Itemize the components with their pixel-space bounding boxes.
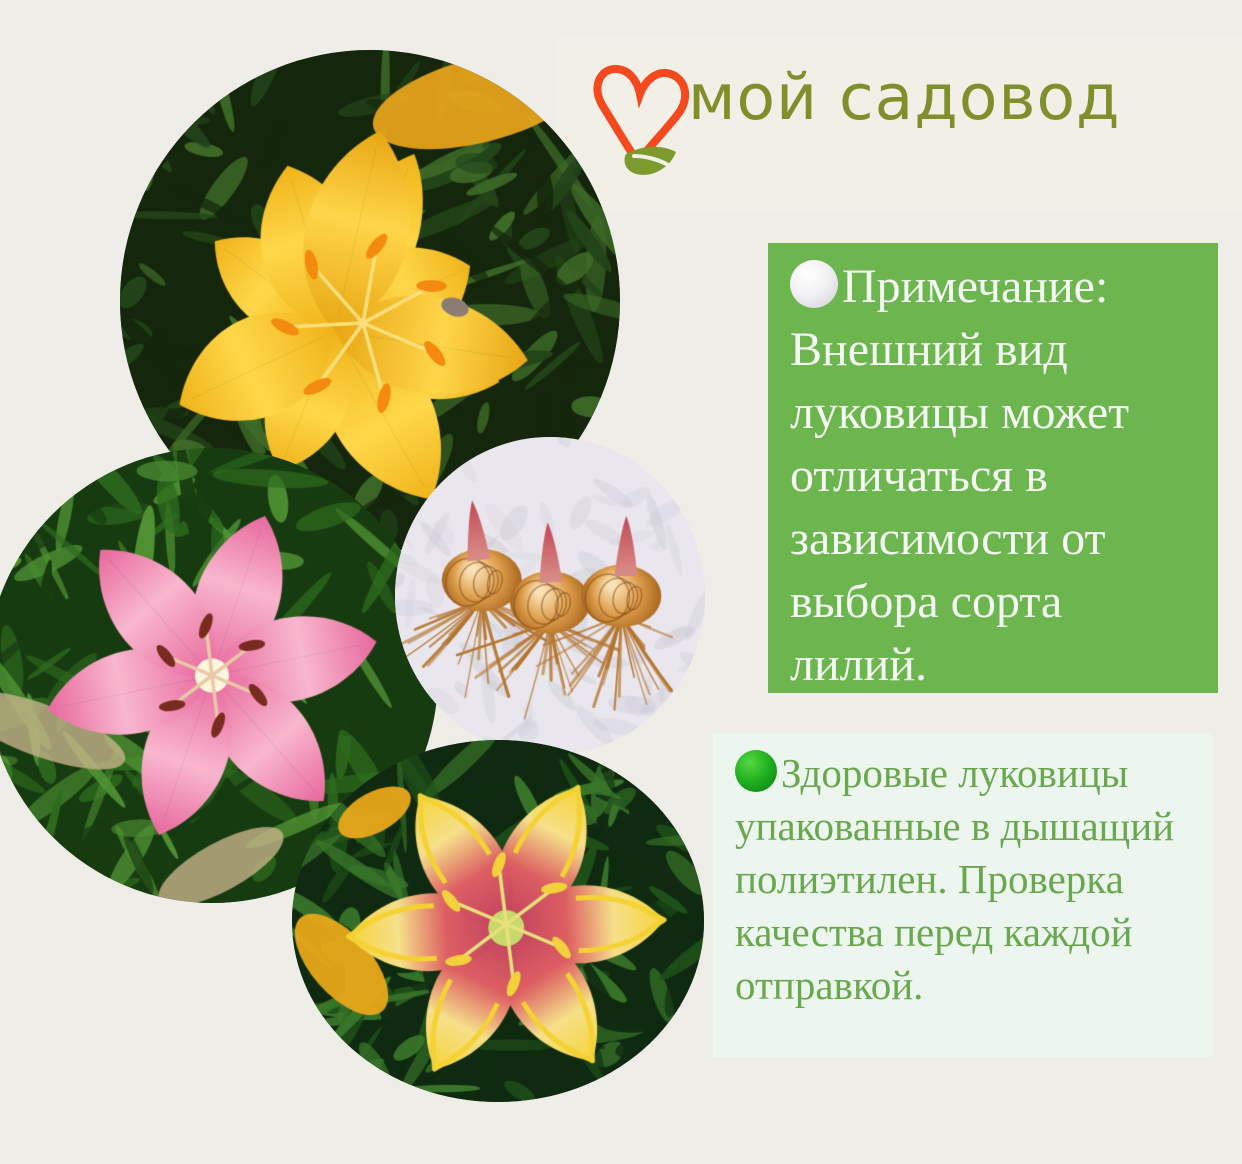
brand-name: мой садовод	[688, 66, 1121, 129]
heart-outline-icon	[597, 69, 685, 162]
brand-logo: мой садовод	[556, 38, 1242, 210]
leaf-icon	[624, 147, 676, 175]
logo-mark-icon	[582, 56, 702, 186]
green-circle-bullet-icon	[735, 750, 777, 792]
note-card: Примечание: Внешний вид луковицы может о…	[768, 243, 1218, 693]
red-yellow-lily-photo	[292, 740, 704, 1102]
note-card-text: Примечание: Внешний вид луковицы может о…	[790, 260, 1129, 691]
red-yellow-lily-canvas	[292, 740, 704, 1102]
white-circle-bullet-icon	[790, 260, 838, 308]
lily-bulbs-photo	[395, 437, 705, 755]
health-card: Здоровые луковицы упакованные в дышащий …	[713, 733, 1213, 1057]
lily-bulbs-canvas	[395, 437, 705, 755]
health-card-text: Здоровые луковицы упакованные в дышащий …	[735, 750, 1174, 1008]
health-card-body: Здоровые луковицы упакованные в дышащий …	[735, 747, 1197, 1012]
note-card-body: Примечание: Внешний вид луковицы может о…	[790, 255, 1196, 696]
poster-root: мой садовод Примечание: Внешний вид луко…	[0, 0, 1242, 1164]
